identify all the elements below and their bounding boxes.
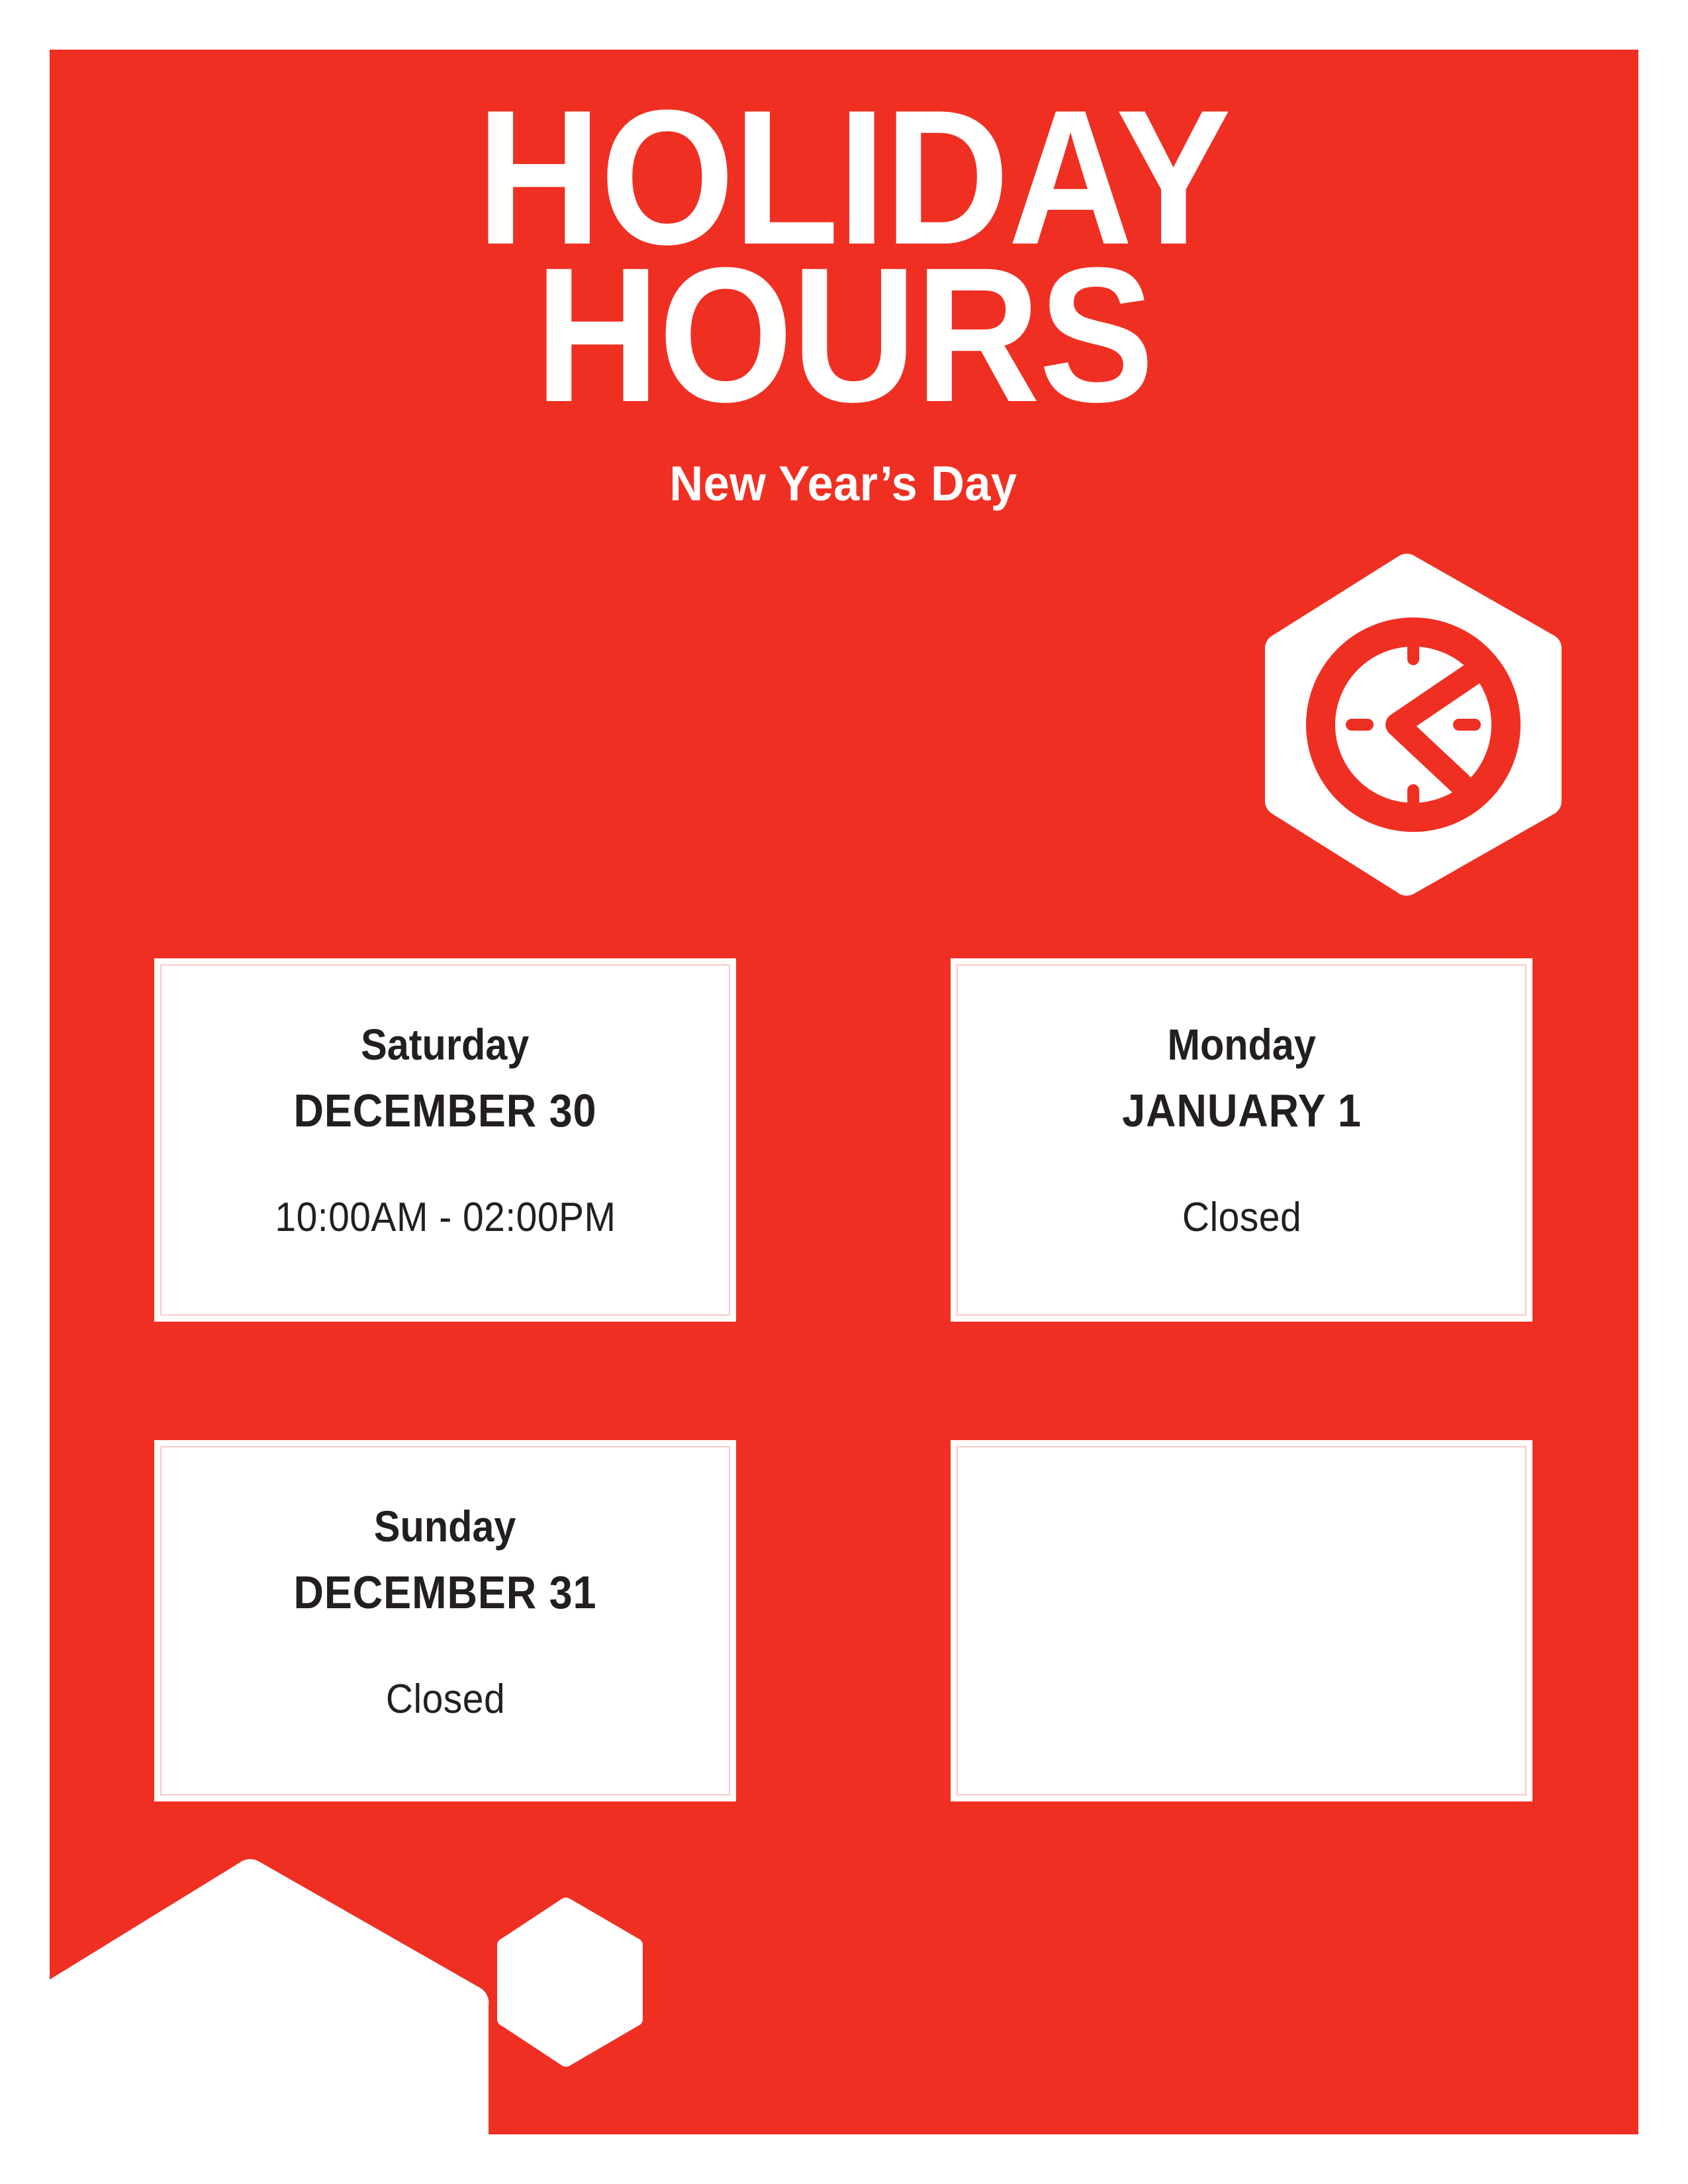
clock-badge <box>1261 551 1566 898</box>
hours-card[interactable]: Saturday DECEMBER 30 10:00AM - 02:00PM <box>154 958 736 1322</box>
hours-card-inner <box>957 1446 1526 1796</box>
hours-card-date: JANUARY 1 <box>1122 1087 1362 1134</box>
hours-card-inner: Monday JANUARY 1 Closed <box>957 964 1526 1316</box>
poster-bottom-margin <box>0 2134 1688 2184</box>
poster-header: HOLIDAY HOURS New Year’s Day <box>50 99 1638 512</box>
hours-card-day: Saturday <box>361 1023 529 1066</box>
hours-card-hours: Closed <box>1182 1197 1301 1238</box>
clock-icon <box>1261 551 1566 898</box>
hexagon-decoration-icon <box>495 1897 645 2068</box>
hours-card-hours: 10:00AM - 02:00PM <box>275 1197 616 1238</box>
hours-card-day: Monday <box>1167 1023 1315 1066</box>
hours-card-inner: Saturday DECEMBER 30 10:00AM - 02:00PM <box>160 964 730 1316</box>
hours-card[interactable]: Sunday DECEMBER 31 Closed <box>154 1440 736 1801</box>
holiday-hours-poster: HOLIDAY HOURS New Year’s Day Saturday DE… <box>0 0 1688 2184</box>
hours-card-hours: Closed <box>385 1679 504 1720</box>
poster-subtitle: New Year’s Day <box>88 455 1599 512</box>
hours-card-row: Sunday DECEMBER 31 Closed <box>154 1440 1532 1801</box>
hours-card-day: Sunday <box>374 1504 516 1548</box>
hours-card-row: Saturday DECEMBER 30 10:00AM - 02:00PM M… <box>154 958 1532 1322</box>
hours-card-date: DECEMBER 30 <box>293 1087 596 1134</box>
hours-card[interactable]: Monday JANUARY 1 Closed <box>951 958 1532 1322</box>
page-title-line-2: HOURS <box>129 257 1559 414</box>
hours-card-inner: Sunday DECEMBER 31 Closed <box>160 1446 730 1796</box>
hours-card-grid: Saturday DECEMBER 30 10:00AM - 02:00PM M… <box>154 958 1532 1801</box>
hours-card-empty[interactable] <box>951 1440 1532 1801</box>
hours-card-date: DECEMBER 31 <box>293 1569 596 1615</box>
